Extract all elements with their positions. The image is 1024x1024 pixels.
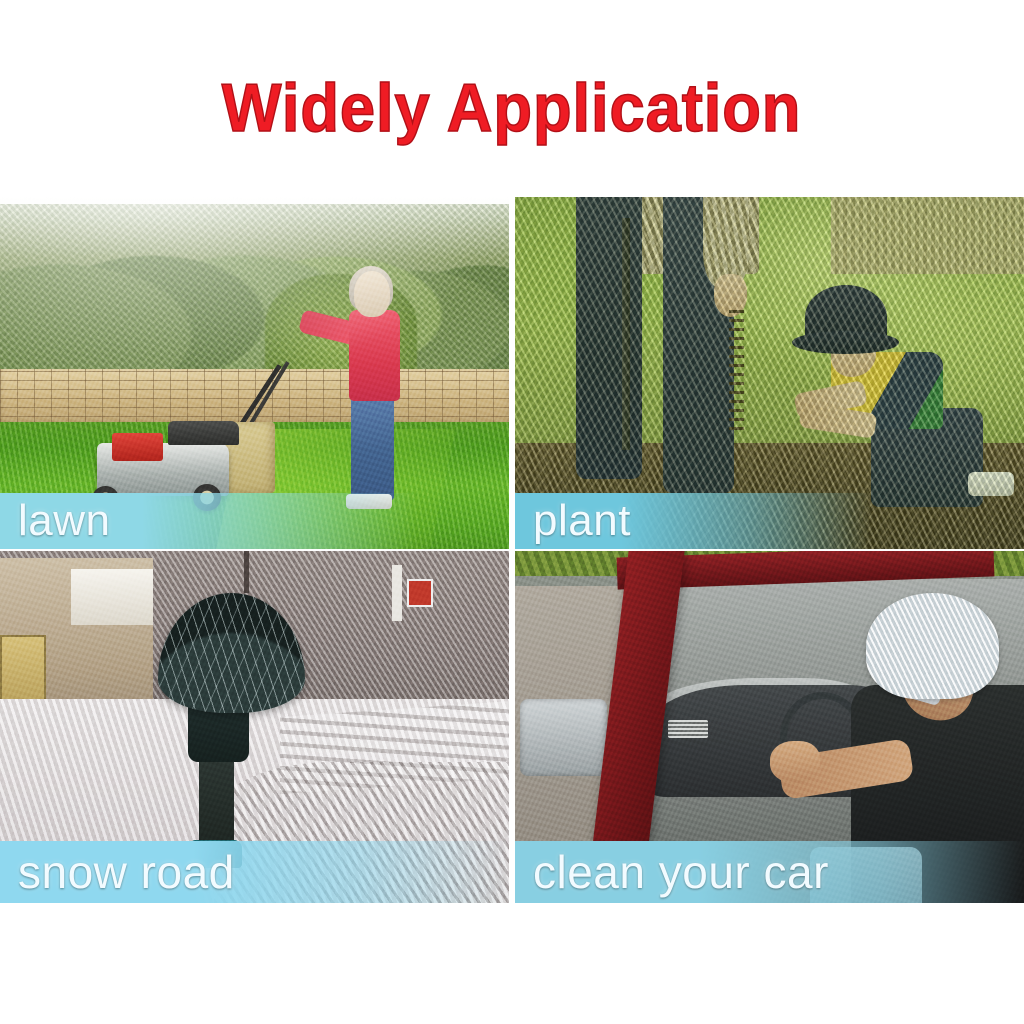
panel-snow-road[interactable]: snow road <box>0 551 509 903</box>
person-legs <box>351 391 394 500</box>
air-vent <box>668 720 709 738</box>
title-banner: Widely Application <box>0 0 1024 197</box>
side-mirror <box>520 699 607 776</box>
mower-engine <box>112 433 163 461</box>
person-head <box>354 271 391 317</box>
building-window <box>71 569 152 625</box>
mower-wheel-rear <box>193 484 220 511</box>
lamp-post <box>244 551 249 593</box>
worker-hair-net <box>866 593 998 699</box>
panel-lawn[interactable]: lawn <box>0 197 509 549</box>
person-shoe <box>346 494 392 509</box>
mower-cover <box>168 421 239 446</box>
pedestrian-boots <box>191 840 242 868</box>
street-sign <box>407 579 432 607</box>
street-sign-pole <box>392 565 402 621</box>
cleaning-cloth <box>810 847 922 903</box>
panel-plant[interactable]: plant <box>515 197 1024 549</box>
pedestrian-legs <box>199 748 235 847</box>
worker-hand <box>770 741 821 783</box>
application-grid: lawn plant <box>0 197 1024 905</box>
page-title: Widely Application <box>222 74 802 142</box>
person-torso <box>349 310 400 402</box>
leaf-texture <box>515 197 1024 549</box>
poster-root: Widely Application <box>0 0 1024 1024</box>
panel-clean-your-car[interactable]: clean your car <box>515 551 1024 903</box>
slush-pile <box>214 762 509 903</box>
